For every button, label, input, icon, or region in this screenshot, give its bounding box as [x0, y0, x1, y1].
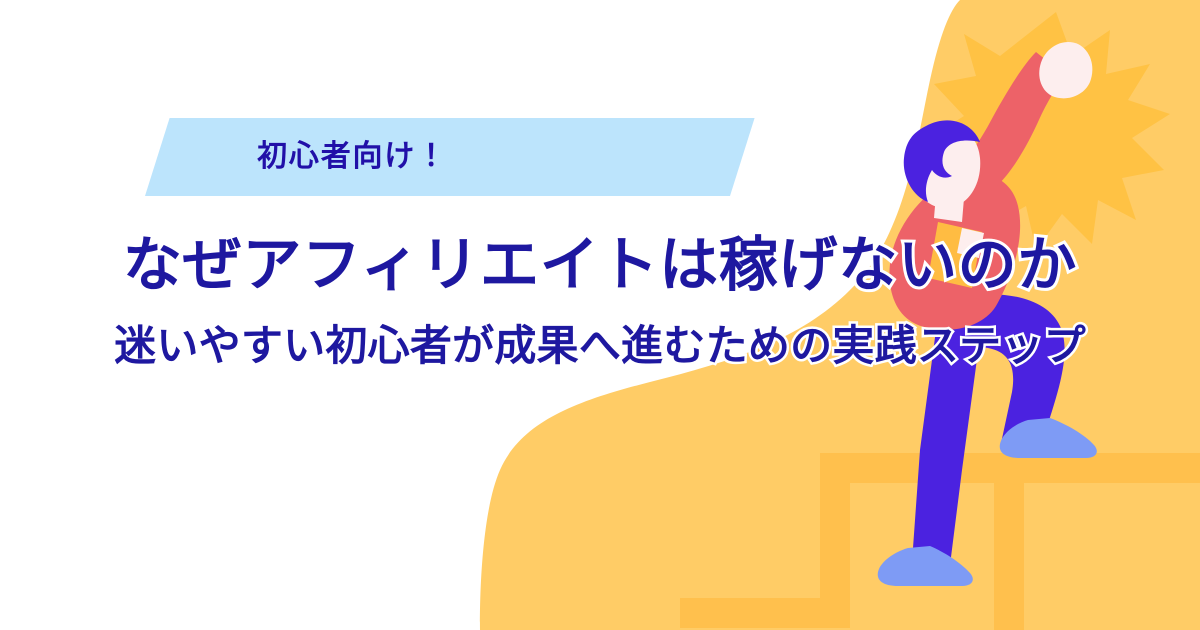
neck — [934, 194, 964, 222]
stair-step-upper — [994, 453, 1200, 630]
fist-hand — [1039, 42, 1092, 98]
badge: 初心者向け！ — [145, 118, 730, 196]
ogp-card: 初心者向け！ なぜアフィリエイトは稼げないのか 迷いやすい初心者が成果へ進むため… — [0, 0, 1200, 630]
shoe-front — [1000, 418, 1097, 458]
starburst-icon — [926, 12, 1170, 250]
head-face — [912, 126, 980, 208]
page-title: なぜアフィリエイトは稼げないのか — [0, 232, 1200, 298]
head-hair — [904, 120, 980, 202]
stair-step-lower — [680, 453, 1024, 628]
badge-label: 初心者向け！ — [145, 118, 730, 196]
shoe-back — [878, 546, 973, 586]
headline-block: なぜアフィリエイトは稼げないのか 迷いやすい初心者が成果へ進むための実践ステップ — [0, 232, 1200, 370]
page-subtitle: 迷いやすい初心者が成果へ進むための実践ステップ — [0, 322, 1200, 370]
arm-raised — [938, 52, 1066, 197]
